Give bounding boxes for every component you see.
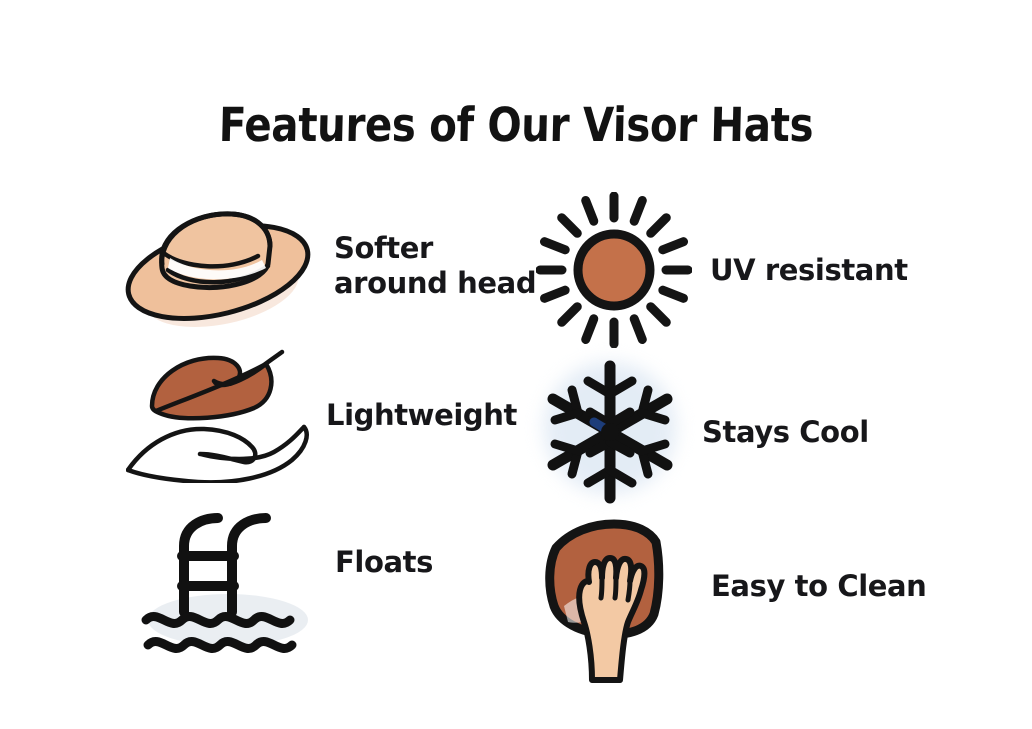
feature-label-stays-cool: Stays Cool	[702, 415, 869, 449]
feature-softer-around-head: Softer around head	[118, 198, 536, 333]
sun-hat-icon-box	[118, 198, 318, 333]
leaf-in-hand-icon	[126, 348, 316, 483]
feature-label-floats: Floats	[335, 545, 433, 579]
feature-label-softer-around-head: Softer around head	[334, 231, 536, 299]
feature-easy-to-clean: Easy to Clean	[532, 510, 926, 685]
hand-wiping-cloth-icon-box	[532, 510, 697, 685]
feature-lightweight: Lightweight	[126, 348, 517, 483]
feature-label-uv-resistant: UV resistant	[710, 253, 908, 287]
snowflake-icon-box	[540, 358, 680, 506]
snowflake-icon	[540, 358, 680, 506]
feature-label-lightweight: Lightweight	[326, 398, 517, 432]
page-title: Features of Our Visor Hats	[72, 98, 961, 153]
feature-stays-cool: Stays Cool	[540, 358, 869, 506]
feature-uv-resistant: UV resistant	[536, 192, 908, 348]
features-grid: Softer around head	[0, 190, 1032, 710]
feature-floats: Floats	[140, 508, 433, 653]
leaf-in-hand-icon-box	[126, 348, 316, 483]
feature-label-easy-to-clean: Easy to Clean	[711, 569, 926, 603]
pool-ladder-water-icon	[140, 508, 315, 653]
pool-ladder-water-icon-box	[140, 508, 315, 653]
sun-icon	[536, 192, 692, 348]
sun-hat-icon	[118, 198, 318, 333]
sun-icon-box	[536, 192, 692, 348]
hand-wiping-cloth-icon	[532, 510, 697, 685]
